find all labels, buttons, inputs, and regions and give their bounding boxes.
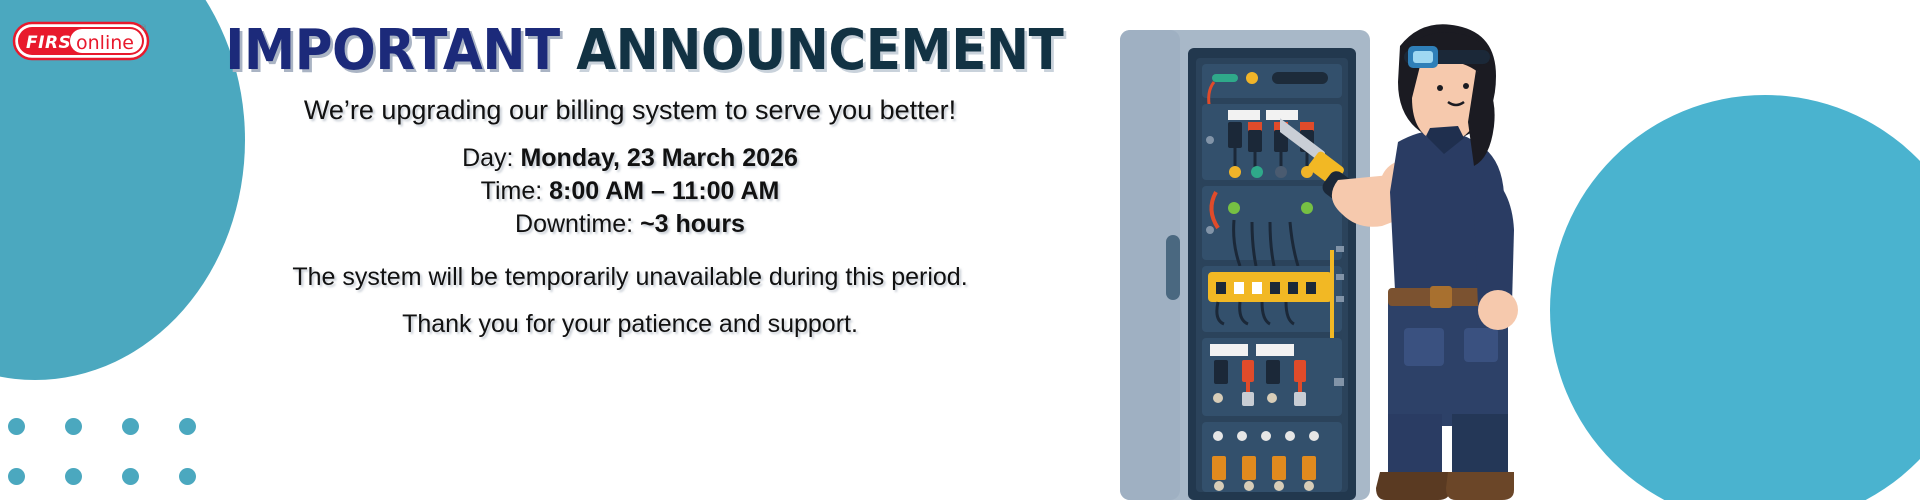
title-word-announcement: ANNOUNCEMENT — [576, 18, 1063, 83]
day-label: Day: — [462, 144, 513, 172]
svg-text:online: online — [76, 32, 134, 54]
technician-illustration — [1280, 10, 1540, 500]
firstonline-logo[interactable]: FIRST online ® — [12, 18, 152, 66]
dot — [65, 418, 82, 435]
dot — [122, 418, 139, 435]
unavailable-note: The system will be temporarily unavailab… — [190, 263, 1070, 292]
downtime-value: ~3 hours — [640, 210, 745, 238]
downtime-label: Downtime: — [515, 210, 633, 238]
dot — [179, 468, 196, 485]
page-title: IMPORTANTANNOUNCEMENT — [225, 22, 1035, 81]
detail-downtime: Downtime: ~3 hours — [190, 208, 1070, 241]
detail-time: Time: 8:00 AM – 11:00 AM — [190, 175, 1070, 208]
detail-day: Day: Monday, 23 March 2026 — [190, 142, 1070, 175]
dot-grid-decoration — [8, 418, 236, 500]
thanks-text: Thank you for your patience and support. — [190, 310, 1070, 339]
dot — [65, 468, 82, 485]
day-value: Monday, 23 March 2026 — [520, 144, 797, 172]
announcement-text-block: IMPORTANTANNOUNCEMENT We’re upgrading ou… — [190, 22, 1070, 339]
lead-text: We’re upgrading our billing system to se… — [190, 95, 1070, 126]
dot — [179, 418, 196, 435]
svg-text:®: ® — [140, 24, 147, 32]
time-label: Time: — [481, 177, 543, 205]
dot — [8, 468, 25, 485]
dot — [122, 468, 139, 485]
time-value: 8:00 AM – 11:00 AM — [549, 177, 779, 205]
title-word-important: IMPORTANT — [225, 18, 559, 83]
dot — [8, 418, 25, 435]
announcement-banner: FIRST online ® IMPORTANTANNOUNCEMENT We’… — [0, 0, 1920, 500]
teal-circle-right-shape — [1550, 95, 1920, 500]
